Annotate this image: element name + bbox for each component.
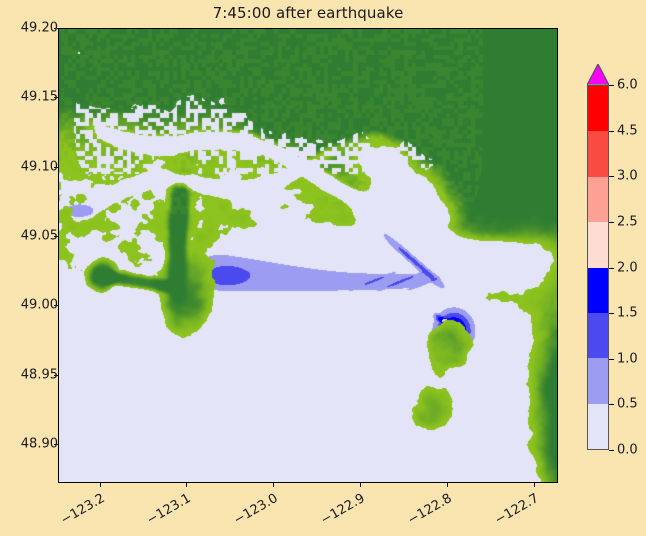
colorbar-tick-label: 0.5 [617, 397, 638, 412]
x-tick-mark [534, 483, 535, 487]
colorbar-tick-label: 4.5 [617, 123, 638, 138]
colorbar-tick-label: 6.0 [617, 78, 638, 93]
colorbar[interactable]: 0.00.51.01.52.02.53.04.56.0 [587, 60, 645, 460]
x-tick-label: −122.8 [393, 491, 454, 535]
colorbar-tick-label: 1.0 [617, 351, 638, 366]
colorbar-tick-label: 1.5 [617, 306, 638, 321]
x-tick-label: −122.7 [480, 491, 541, 535]
x-tick-mark [186, 483, 187, 487]
x-tick-label: −123.2 [46, 491, 107, 535]
colorbar-tick-mark [609, 313, 614, 314]
colorbar-band [588, 404, 608, 449]
colorbar-tick-mark [609, 404, 614, 405]
x-tick-label: −123.0 [220, 491, 281, 535]
x-tick-label: −122.9 [306, 491, 367, 535]
x-tick-mark [100, 483, 101, 487]
x-axis: −123.2−123.1−123.0−122.9−122.8−122.7 [0, 0, 646, 536]
colorbar-tick-label: 3.0 [617, 169, 638, 184]
colorbar-band [588, 222, 608, 267]
colorbar-band [588, 358, 608, 403]
x-tick-mark [273, 483, 274, 487]
x-tick-mark [360, 483, 361, 487]
x-tick-mark [447, 483, 448, 487]
x-tick-label: −123.1 [133, 491, 194, 535]
figure-canvas: 7:45:00 after earthquake 49.2049.1549.10… [0, 0, 646, 536]
colorbar-tick-label: 0.0 [617, 443, 638, 458]
colorbar-tick-mark [609, 268, 614, 269]
colorbar-gradient [587, 85, 609, 450]
colorbar-band [588, 86, 608, 131]
colorbar-tick-label: 2.5 [617, 214, 638, 229]
colorbar-band [588, 313, 608, 358]
colorbar-tick-mark [609, 222, 614, 223]
colorbar-band [588, 131, 608, 176]
colorbar-extend-arrow-outline-icon [587, 64, 609, 85]
colorbar-tick-mark [609, 450, 614, 451]
colorbar-tick-mark [609, 85, 614, 86]
colorbar-tick-label: 2.0 [617, 260, 638, 275]
colorbar-tick-mark [609, 131, 614, 132]
colorbar-band [588, 177, 608, 222]
colorbar-band [588, 268, 608, 313]
colorbar-tick-mark [609, 176, 614, 177]
colorbar-tick-mark [609, 359, 614, 360]
